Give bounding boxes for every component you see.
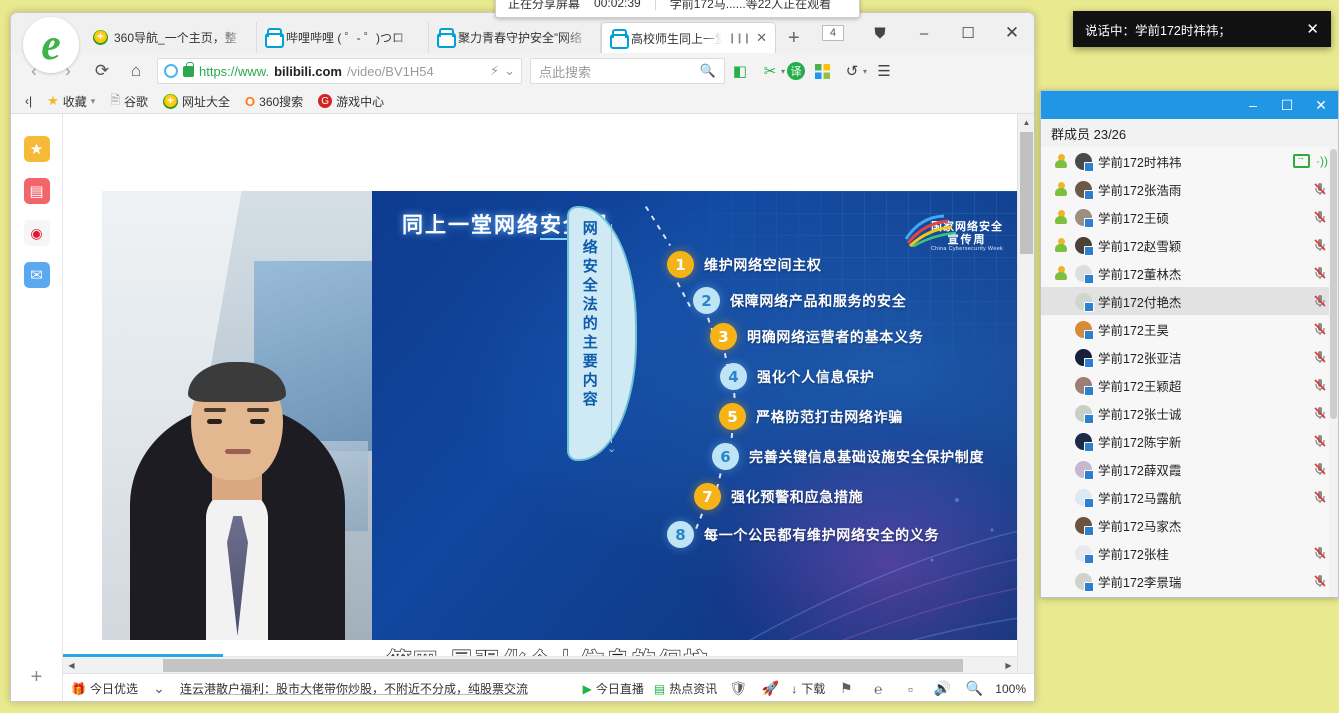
- mic-muted-icon[interactable]: [1312, 573, 1328, 589]
- slide-item-text: 每一个公民都有维护网络安全的义务: [704, 525, 939, 545]
- bookmark-nav[interactable]: 网址大全: [157, 91, 236, 112]
- slide-item-list: 1 维护网络空间主权 2 保障网络产品和服务的安全 3 明确网络运营者的基本义务: [667, 191, 1034, 640]
- page-load-progress: [63, 654, 223, 657]
- presenter-icon: [1053, 209, 1069, 225]
- browser-status-bar: 🎁 今日优选 ⌄ 连云港散户福利：股市大佬带你炒股，不附近不分成，纯股票交流 ▶…: [63, 673, 1034, 702]
- slide-title-part1: 同上一堂网络: [402, 213, 540, 237]
- download-label: 下载: [801, 680, 825, 697]
- ebrowser-icon[interactable]: ℮: [867, 681, 889, 697]
- mic-muted-icon[interactable]: [1312, 237, 1328, 253]
- scrollbar-thumb[interactable]: [163, 659, 963, 672]
- eye-right: [250, 419, 265, 424]
- spacer: [1053, 461, 1069, 477]
- member-name: 学前172时祎祎: [1098, 152, 1287, 171]
- weibo-icon[interactable]: ◉: [24, 220, 50, 246]
- spacer: [1053, 377, 1069, 393]
- download-icon: ↓: [791, 682, 797, 696]
- home-icon[interactable]: ⌂: [119, 56, 153, 86]
- close-icon[interactable]: ✕: [1306, 20, 1319, 38]
- page-icon: 🗎: [110, 91, 120, 112]
- search-placeholder: 点此搜索: [539, 62, 591, 81]
- connector-dash: [677, 282, 692, 308]
- add-sidebar-icon[interactable]: +: [31, 666, 43, 689]
- o-icon: O: [245, 94, 255, 109]
- url-domain: bilibili.com: [274, 64, 342, 79]
- speaking-notification-toast: 说话中：学前172时祎祎； ✕: [1073, 11, 1331, 47]
- rocket-icon[interactable]: 🚀: [759, 680, 781, 697]
- mic-muted-icon[interactable]: [1312, 433, 1328, 449]
- member-row[interactable]: 学前172时祎祎·)): [1041, 147, 1338, 175]
- video-player[interactable]: 同上一堂网络安全课 国家网络安全 宣传周 China Cybersecurity…: [102, 191, 1034, 640]
- url-scheme: https://www.: [199, 64, 269, 79]
- mic-muted-icon[interactable]: [1312, 321, 1328, 337]
- members-list[interactable]: 学前172时祎祎·))学前172张浩雨学前172王硕学前172赵雪颖学前172董…: [1041, 147, 1338, 597]
- slide-item-4: 4 强化个人信息保护: [720, 363, 875, 390]
- mic-muted-icon[interactable]: [1312, 209, 1328, 225]
- window-icon[interactable]: ▫: [899, 681, 921, 697]
- avatar: [1075, 293, 1092, 310]
- spacer: [1053, 433, 1069, 449]
- zoom-level[interactable]: 100%: [995, 682, 1026, 696]
- news-ticker[interactable]: 连云港散户福利：股市大佬带你炒股，不附近不分成，纯股票交流: [180, 680, 528, 697]
- lock-icon: [183, 66, 194, 77]
- bookmarks-bar: ‹| ★ 收藏 ▾ 🗎 谷歌 网址大全 O 360搜索 G 游戏中心: [11, 89, 1034, 114]
- chevron-down-icon[interactable]: ▾: [863, 67, 867, 76]
- bullet-number: 8: [667, 521, 694, 548]
- slide-item-6: 6 完善关键信息基础设施安全保护制度: [712, 443, 984, 470]
- bookmark-label: 谷歌: [124, 93, 148, 110]
- avatar: [1075, 349, 1092, 366]
- live-label: 今日直播: [596, 680, 644, 697]
- avatar: [1075, 461, 1092, 478]
- bookmark-google[interactable]: 🗎 谷歌: [104, 89, 154, 114]
- navigation-bar: ‹ › ⟳ ⌂ https://www. bilibili.com /video…: [11, 53, 1034, 89]
- speaker-figure: [130, 310, 345, 640]
- member-name: 学前172王昊: [1098, 320, 1306, 339]
- bookmark-360search[interactable]: O 360搜索: [239, 91, 309, 112]
- search-icon[interactable]: 🔍: [700, 63, 716, 79]
- toast-text: 说话中：学前172时祎祎；: [1085, 20, 1231, 39]
- star-icon: ★: [47, 93, 59, 109]
- gear-icon[interactable]: [164, 64, 178, 78]
- avatar: [1075, 181, 1092, 198]
- scrollbar-thumb[interactable]: [1330, 149, 1337, 419]
- share-status: 正在分享屏幕: [508, 0, 580, 12]
- presenter-icon: [1053, 237, 1069, 253]
- close-icon[interactable]: ✕: [756, 30, 767, 46]
- scrollbar-thumb[interactable]: [1020, 132, 1033, 254]
- slide-item-text: 明确网络运营者的基本义务: [747, 327, 923, 347]
- today-picks-button[interactable]: 🎁 今日优选: [71, 680, 138, 697]
- 360-icon: [163, 94, 178, 109]
- shield-icon[interactable]: 🛡: [727, 680, 749, 697]
- member-name: 学前172张士诚: [1098, 404, 1306, 423]
- presenter-icon: [1053, 181, 1069, 197]
- member-row[interactable]: 学前172马家杰: [1041, 511, 1338, 539]
- avatar: [1075, 321, 1092, 338]
- slide-item-text: 强化个人信息保护: [757, 367, 875, 387]
- member-name: 学前172赵雪颖: [1098, 236, 1306, 255]
- speaking-icon: ·)): [1316, 154, 1328, 168]
- group-members-window: – ☐ ✕ 群成员 23/26 学前172时祎祎·))学前172张浩雨学前172…: [1040, 90, 1339, 598]
- slide-item-8: 8 每一个公民都有维护网络安全的义务: [667, 521, 939, 548]
- mic-muted-icon[interactable]: [1312, 265, 1328, 281]
- minimize-button[interactable]: –: [1236, 91, 1270, 119]
- bilibili-icon: [437, 30, 452, 45]
- mic-muted-icon[interactable]: [1312, 489, 1328, 505]
- tab-label: 聚力青春守护安全”网络: [458, 29, 592, 46]
- tab-label: 360导航_一个主页，整: [114, 29, 248, 46]
- maximize-button[interactable]: ☐: [1270, 91, 1304, 119]
- avatar: [1075, 209, 1092, 226]
- browser-tab-1[interactable]: 哔哩哔哩 ( ゜- ゜)つロ: [257, 22, 429, 53]
- slide-item-text: 强化预警和应急措施: [731, 487, 863, 507]
- bookmark-label: 网址大全: [182, 93, 230, 110]
- minimize-button[interactable]: –: [902, 13, 946, 53]
- avatar: [1075, 517, 1092, 534]
- eye-left: [207, 419, 222, 424]
- mic-muted-icon[interactable]: [1312, 461, 1328, 477]
- avatar: [1075, 405, 1092, 422]
- members-title-bar: – ☐ ✕: [1041, 91, 1338, 119]
- gift-icon: 🎁: [71, 682, 86, 696]
- hot-news-button[interactable]: ▤ 热点资讯: [654, 680, 717, 697]
- spacer: [1053, 489, 1069, 505]
- bullet-number: 5: [719, 403, 746, 430]
- member-row[interactable]: 学前172李景瑞: [1041, 567, 1338, 595]
- spacer: [1053, 545, 1069, 561]
- address-bar[interactable]: https://www. bilibili.com /video/BV1H54 …: [157, 58, 522, 84]
- url-path: /video/BV1H54: [347, 64, 434, 79]
- reader-icon[interactable]: ◧: [725, 56, 755, 86]
- game-icon: G: [318, 94, 332, 108]
- ticker-caret-icon[interactable]: ⌄: [148, 680, 170, 697]
- member-name: 学前172付艳杰: [1098, 292, 1306, 311]
- bookmark-label: 游戏中心: [336, 93, 384, 110]
- bookmark-label: 360搜索: [259, 93, 303, 110]
- tab-list: 360导航_一个主页，整 哔哩哔哩 ( ゜- ゜)つロ 聚力青春守护安全”网络 …: [85, 22, 812, 53]
- spacer: [1053, 405, 1069, 421]
- maximize-button[interactable]: ☐: [946, 13, 990, 53]
- screen-share-bar: 正在分享屏幕 00:02:39 学前172马......等22人正在观看: [495, 0, 860, 18]
- live-button[interactable]: ▶ 今日直播: [583, 680, 644, 697]
- vertical-text: 网络安全法的主要内容: [581, 220, 597, 445]
- member-row[interactable]: 学前172王颖超: [1041, 371, 1338, 399]
- slide-item-text: 完善关键信息基础设施安全保护制度: [749, 447, 984, 467]
- speaker-camera-feed: [102, 191, 372, 640]
- member-name: 学前172张亚洁: [1098, 348, 1306, 367]
- slide-item-7: 7 强化预警和应急措施: [694, 483, 863, 510]
- bullet-number: 1: [667, 251, 694, 278]
- tab-label: 哔哩哔哩 ( ゜- ゜)つロ: [286, 29, 420, 46]
- spacer: [1053, 321, 1069, 337]
- spacer: [1053, 517, 1069, 533]
- page-horizontal-scrollbar[interactable]: ◀ ▶: [63, 656, 1017, 673]
- slide-item-text: 严格防范打击网络诈骗: [756, 407, 903, 427]
- member-name: 学前172王颖超: [1098, 376, 1306, 395]
- slide-item-text: 保障网络产品和服务的安全: [730, 291, 906, 311]
- member-row[interactable]: 学前172马露航: [1041, 483, 1338, 511]
- slide-item-text: 维护网络空间主权: [704, 255, 822, 275]
- page-body: ★ ▤ ◉ ✉ + bilibili: [11, 114, 1034, 702]
- member-name: 学前172董林杰: [1098, 264, 1306, 283]
- slide-item-3: 3 明确网络运营者的基本义务: [710, 323, 923, 350]
- chevron-down-icon[interactable]: ⌄: [504, 63, 515, 79]
- scroll-up-icon[interactable]: ▲: [1018, 114, 1034, 131]
- member-name: 学前172张桂: [1098, 544, 1306, 563]
- member-name: 学前172李景瑞: [1098, 572, 1306, 591]
- eyebrow-left: [204, 408, 226, 412]
- member-name: 学前172王硕: [1098, 208, 1306, 227]
- browser-logo-icon: e: [23, 17, 79, 73]
- volume-icon[interactable]: 🔊: [931, 680, 953, 697]
- member-row[interactable]: 学前172张浩雨: [1041, 175, 1338, 203]
- spacer: [1312, 517, 1328, 533]
- lightning-icon[interactable]: ⚡: [490, 63, 499, 79]
- members-header: 群成员 23/26: [1041, 119, 1338, 147]
- skin-icon[interactable]: ⛊: [858, 13, 902, 53]
- browser-tab-2[interactable]: 聚力青春守护安全”网络: [429, 22, 601, 53]
- mic-muted-icon[interactable]: [1312, 349, 1328, 365]
- chevron-down-icon[interactable]: ▾: [801, 67, 805, 76]
- search-input[interactable]: 点此搜索 🔍: [530, 58, 725, 84]
- chevron-down-icon[interactable]: ▾: [781, 67, 785, 76]
- members-scrollbar[interactable]: [1329, 147, 1338, 597]
- slide-item-1: 1 维护网络空间主权: [667, 251, 822, 278]
- page-vertical-scrollbar[interactable]: ▲ ▼: [1017, 114, 1034, 702]
- eyebrow-right: [247, 408, 269, 412]
- bullet-number: 2: [693, 287, 720, 314]
- mic-muted-icon[interactable]: [1312, 293, 1328, 309]
- member-row[interactable]: 学前172张桂: [1041, 539, 1338, 567]
- bullet-number: 3: [710, 323, 737, 350]
- left-sidebar: ★ ▤ ◉ ✉ +: [11, 114, 63, 702]
- member-name: 学前172马露航: [1098, 488, 1306, 507]
- member-row[interactable]: 学前172赵雪颖: [1041, 231, 1338, 259]
- search-icon[interactable]: 🔍: [963, 680, 985, 697]
- share-viewers: 学前172马......等22人正在观看: [670, 0, 831, 12]
- play-icon: ▶: [583, 682, 592, 696]
- close-button[interactable]: ✕: [1304, 91, 1338, 119]
- avatar: [1075, 153, 1092, 170]
- mic-muted-icon[interactable]: [1312, 377, 1328, 393]
- share-timer: 00:02:39: [594, 0, 641, 10]
- member-name: 学前172薛双霞: [1098, 460, 1306, 479]
- mic-muted-icon[interactable]: [1312, 545, 1328, 561]
- reload-icon[interactable]: ⟳: [85, 56, 119, 86]
- spacer: [1053, 349, 1069, 365]
- bilibili-icon: [610, 31, 625, 46]
- presenter-icon: [1053, 265, 1069, 281]
- page-content: bilibili: [63, 114, 1034, 702]
- spacer: [1053, 293, 1069, 309]
- download-button[interactable]: ↓ 下载: [791, 680, 825, 697]
- spacer: [1053, 573, 1069, 589]
- bullet-number: 4: [720, 363, 747, 390]
- avatar: [1075, 237, 1092, 254]
- bookmark-label: 收藏: [63, 93, 87, 110]
- bullet-number: 7: [694, 483, 721, 510]
- bilibili-icon: [265, 30, 280, 45]
- bullet-number: 6: [712, 443, 739, 470]
- hot-news-label: 热点资讯: [669, 680, 717, 697]
- divider: [655, 0, 656, 10]
- member-row[interactable]: 学前172张亚洁: [1041, 343, 1338, 371]
- chevron-down-icon[interactable]: ▾: [91, 96, 96, 107]
- apps-icon[interactable]: [807, 56, 837, 86]
- audio-indicator-icon: ❙❙❙: [728, 33, 750, 44]
- avatar: [1075, 573, 1092, 590]
- avatar: [1075, 265, 1092, 282]
- mic-muted-icon[interactable]: [1312, 405, 1328, 421]
- member-row[interactable]: 学前172陈宇新: [1041, 427, 1338, 455]
- slide-item-2: 2 保障网络产品和服务的安全: [693, 287, 906, 314]
- scroll-right-icon[interactable]: ▶: [1000, 657, 1017, 674]
- browser-tab-3[interactable]: 高校师生同上一堂网 ❙❙❙ ✕: [601, 22, 776, 53]
- bookmarks-back-icon[interactable]: ‹|: [19, 92, 38, 110]
- scroll-left-icon[interactable]: ◀: [63, 657, 80, 674]
- member-row[interactable]: 学前172张士诚: [1041, 399, 1338, 427]
- member-row[interactable]: 学前172付艳杰: [1041, 287, 1338, 315]
- member-name: 学前172陈宇新: [1098, 432, 1306, 451]
- avatar: [1075, 377, 1092, 394]
- mouth: [225, 449, 251, 454]
- vbox-divider: [611, 224, 612, 443]
- tab-label: 高校师生同上一堂网: [631, 30, 722, 47]
- mail-icon[interactable]: ✉: [24, 262, 50, 288]
- flag-icon[interactable]: ⚑: [835, 680, 857, 697]
- window-controls: 4 ⛊ – ☐ ✕: [822, 13, 1034, 53]
- hair: [188, 362, 286, 402]
- slide-item-5: 5 严格防范打击网络诈骗: [719, 403, 903, 430]
- member-row[interactable]: 学前172王昊: [1041, 315, 1338, 343]
- presentation-slide: 同上一堂网络安全课 国家网络安全 宣传周 China Cybersecurity…: [372, 191, 1034, 640]
- menu-icon[interactable]: ☰: [869, 56, 899, 86]
- today-picks-label: 今日优选: [90, 680, 138, 697]
- new-tab-button[interactable]: +: [776, 23, 812, 53]
- mic-muted-icon[interactable]: [1312, 181, 1328, 197]
- close-button[interactable]: ✕: [990, 13, 1034, 53]
- hot-news-icon: ▤: [654, 682, 665, 696]
- member-name: 学前172马家杰: [1098, 516, 1306, 535]
- favorites-icon[interactable]: ★: [24, 136, 50, 162]
- member-row[interactable]: 学前172王硕: [1041, 203, 1338, 231]
- bookmark-favorites[interactable]: ★ 收藏 ▾: [41, 91, 101, 112]
- avatar: [1075, 433, 1092, 450]
- member-row[interactable]: 学前172薛双霞: [1041, 455, 1338, 483]
- screen-share-icon: [1293, 154, 1310, 168]
- avatar: [1075, 545, 1092, 562]
- member-row[interactable]: 学前172董林杰: [1041, 259, 1338, 287]
- tab-strip: e 360导航_一个主页，整 哔哩哔哩 ( ゜- ゜)つロ 聚力青春守护安全”网…: [11, 13, 1034, 53]
- news-icon[interactable]: ▤: [24, 178, 50, 204]
- bookmark-gamecenter[interactable]: G 游戏中心: [312, 91, 390, 112]
- member-name: 学前172张浩雨: [1098, 180, 1306, 199]
- window-count-badge[interactable]: 4: [822, 25, 844, 41]
- presenter-icon: [1053, 153, 1069, 169]
- browser-tab-0[interactable]: 360导航_一个主页，整: [85, 22, 257, 53]
- avatar: [1075, 489, 1092, 506]
- browser-window: e 360导航_一个主页，整 哔哩哔哩 ( ゜- ゜)つロ 聚力青春守护安全”网…: [10, 12, 1035, 702]
- 360-icon: [93, 30, 108, 45]
